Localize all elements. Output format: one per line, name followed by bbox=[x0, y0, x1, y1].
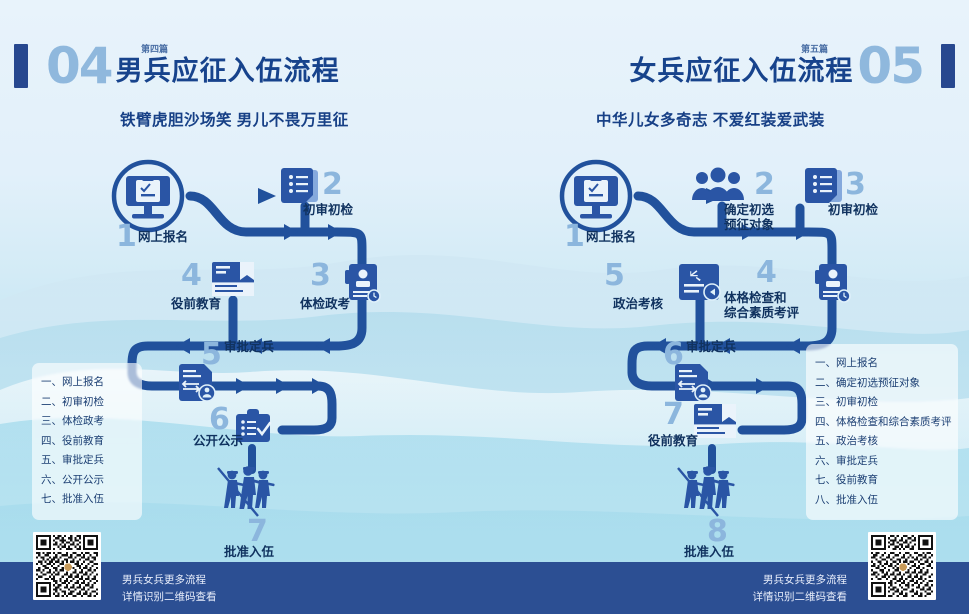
step-number-female-1: 1 bbox=[564, 222, 585, 252]
icon-party-emblem-female bbox=[679, 264, 720, 300]
qr-code-icon bbox=[36, 535, 98, 597]
footer-line1-right: 男兵女兵更多流程 bbox=[753, 572, 848, 589]
qr-code-icon bbox=[871, 535, 933, 597]
legend-item-male-1: 一、网上报名 bbox=[41, 373, 133, 393]
icon-book-female bbox=[694, 404, 736, 438]
step-number-female-8: 8 bbox=[707, 517, 728, 547]
footer-line2-left: 详情识别二维码查看 bbox=[122, 589, 217, 606]
step-label-female-7: 役前教育 bbox=[648, 434, 698, 449]
legend-item-male-3: 三、体检政考 bbox=[41, 412, 133, 432]
step-number-female-3: 3 bbox=[845, 170, 866, 200]
legend-female: 一、网上报名二、确定初选预征对象三、初审初检四、体格检查和综合素质考评五、政治考… bbox=[806, 344, 958, 520]
step-label-female-2: 确定初选 预征对象 bbox=[724, 203, 774, 233]
step-number-female-7: 7 bbox=[663, 400, 684, 430]
step-label-female-3: 初审初检 bbox=[828, 203, 878, 218]
qr-code-left[interactable] bbox=[33, 532, 101, 600]
footer-text-right: 男兵女兵更多流程 详情识别二维码查看 bbox=[753, 572, 848, 606]
female-flow-diagram bbox=[0, 0, 969, 614]
icon-medical-record-female bbox=[815, 264, 850, 302]
qr-code-right[interactable] bbox=[868, 532, 936, 600]
infographic-canvas: 04 第四篇 男兵应征入伍流程 女兵应征入伍流程 05 第五篇 铁臂虎胆沙场笑 … bbox=[0, 0, 969, 614]
footer-line1-left: 男兵女兵更多流程 bbox=[122, 572, 217, 589]
icon-soldiers-female bbox=[678, 466, 735, 516]
legend-item-male-2: 二、初审初检 bbox=[41, 393, 133, 413]
legend-male: 一、网上报名二、初审初检三、体检政考四、役前教育五、审批定兵六、公开公示七、批准… bbox=[32, 363, 142, 520]
legend-item-female-6: 六、审批定兵 bbox=[815, 452, 949, 472]
step-label-female-4: 体格检查和 综合素质考评 bbox=[724, 291, 799, 321]
step-label-female-1: 网上报名 bbox=[586, 230, 636, 245]
step-label-female-5: 政治考核 bbox=[613, 297, 663, 312]
step-number-female-5: 5 bbox=[604, 261, 625, 291]
legend-item-male-6: 六、公开公示 bbox=[41, 471, 133, 491]
legend-item-female-1: 一、网上报名 bbox=[815, 354, 949, 374]
legend-item-female-2: 二、确定初选预征对象 bbox=[815, 374, 949, 394]
legend-item-male-7: 七、批准入伍 bbox=[41, 490, 133, 510]
legend-item-female-4: 四、体格检查和综合素质考评 bbox=[815, 413, 949, 433]
footer-text-left: 男兵女兵更多流程 详情识别二维码查看 bbox=[122, 572, 217, 606]
footer-line2-right: 详情识别二维码查看 bbox=[753, 589, 848, 606]
legend-item-male-5: 五、审批定兵 bbox=[41, 451, 133, 471]
step-label-female-8: 批准入伍 bbox=[684, 545, 734, 560]
legend-item-female-3: 三、初审初检 bbox=[815, 393, 949, 413]
icon-people-group-female bbox=[692, 168, 744, 202]
step-number-female-4: 4 bbox=[756, 258, 777, 288]
legend-item-female-8: 八、批准入伍 bbox=[815, 491, 949, 511]
icon-document-list-female bbox=[805, 168, 842, 203]
legend-item-female-5: 五、政治考核 bbox=[815, 432, 949, 452]
step-number-female-6: 6 bbox=[663, 340, 684, 370]
step-number-female-2: 2 bbox=[754, 170, 775, 200]
step-label-female-6: 审批定兵 bbox=[686, 340, 736, 355]
legend-item-female-7: 七、役前教育 bbox=[815, 471, 949, 491]
legend-item-male-4: 四、役前教育 bbox=[41, 432, 133, 452]
